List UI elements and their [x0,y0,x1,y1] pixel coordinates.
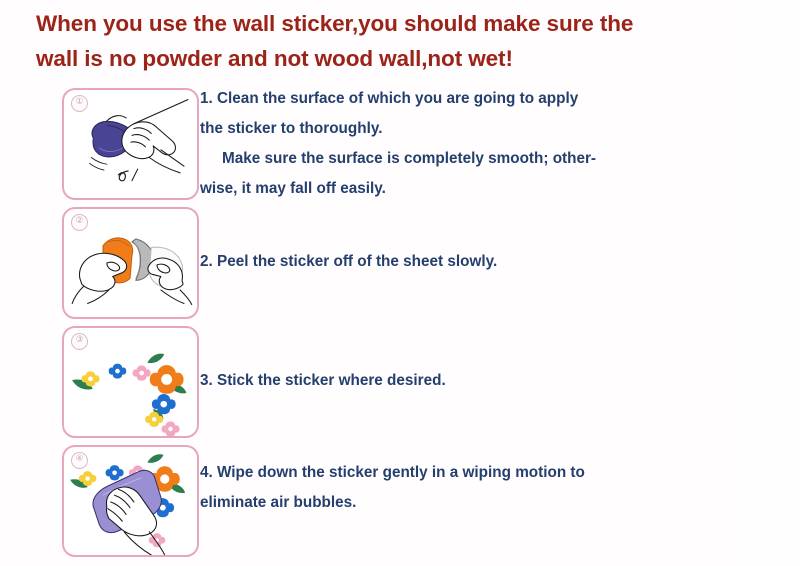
step-badge-4: ④ [71,452,88,469]
step-text-2: 2. Peel the sticker off of the sheet slo… [200,247,660,277]
step-text-line: 2. Peel the sticker off of the sheet slo… [200,247,660,277]
step-text-line: 1. Clean the surface of which you are go… [200,84,660,114]
step-text-4: 4. Wipe down the sticker gently in a wip… [200,458,660,518]
step-badge-3: ③ [71,333,88,350]
step-badge-2: ② [71,214,88,231]
step-illustration-panel-2: ② [62,207,199,319]
step-text-1: 1. Clean the surface of which you are go… [200,84,660,204]
step-badge-1: ① [71,95,88,112]
step-item: ② [0,207,800,322]
steps-list: ① [0,0,800,566]
step-item: ① [0,88,800,203]
step-illustration-panel-3: ③ [62,326,199,438]
step-illustration-panel-4: ④ [62,445,199,557]
instruction-sheet: When you use the wall sticker,you should… [0,0,800,566]
step-text-3: 3. Stick the sticker where desired. [200,366,660,396]
step-text-line: 4. Wipe down the sticker gently in a wip… [200,458,660,488]
step-text-line: 3. Stick the sticker where desired. [200,366,660,396]
step-item: ④ [0,445,800,561]
step-item: ③ [0,326,800,441]
step-text-line: eliminate air bubbles. [200,488,660,518]
step-text-line: Make sure the surface is completely smoo… [200,144,660,174]
step-text-line: wise, it may fall off easily. [200,174,660,204]
step-text-line: the sticker to thoroughly. [200,114,660,144]
step-illustration-panel-1: ① [62,88,199,200]
